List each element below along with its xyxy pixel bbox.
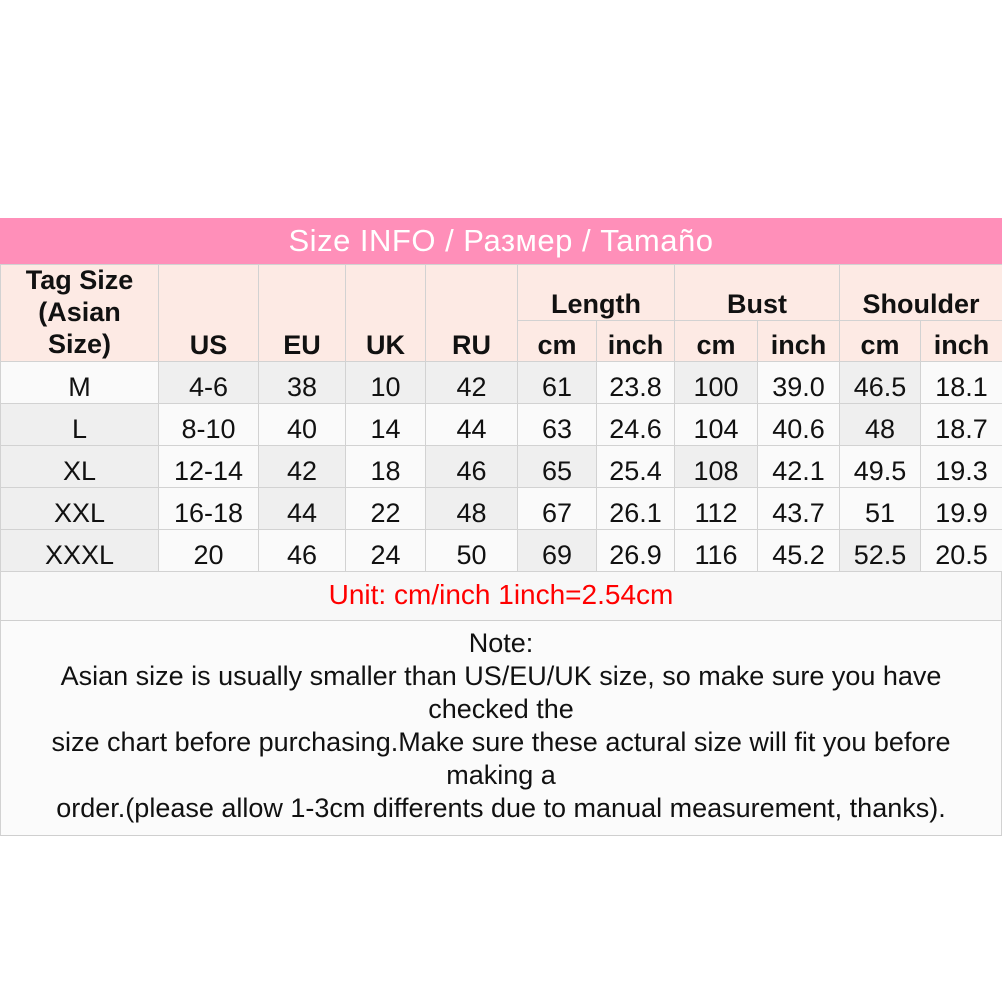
table-row: L 8-10 40 14 44 63 24.6 104 40.6 48 18.7 (1, 403, 1002, 445)
cell-uk: 24 (346, 529, 426, 571)
cell-ru: 50 (426, 529, 518, 571)
cell-bust-cm: 108 (675, 445, 758, 487)
cell-shoulder-cm: 46.5 (840, 361, 921, 403)
cell-bust-cm: 104 (675, 403, 758, 445)
cell-shoulder-cm: 52.5 (840, 529, 921, 571)
cell-uk: 18 (346, 445, 426, 487)
cell-length-cm: 65 (518, 445, 597, 487)
header-tag-size-line1: Tag Size (1, 265, 158, 297)
cell-length-cm: 63 (518, 403, 597, 445)
cell-uk: 22 (346, 487, 426, 529)
size-table: Tag Size (Asian Size) US EU UK RU Length… (0, 264, 1002, 572)
table-row: M 4-6 38 10 42 61 23.8 100 39.0 46.5 18.… (1, 361, 1002, 403)
size-table-body: M 4-6 38 10 42 61 23.8 100 39.0 46.5 18.… (1, 361, 1002, 571)
cell-ru: 48 (426, 487, 518, 529)
cell-length-cm: 61 (518, 361, 597, 403)
unit-note-text: Unit: cm/inch 1inch=2.54cm (329, 579, 674, 610)
cell-length-inch: 26.9 (597, 529, 675, 571)
cell-shoulder-inch: 20.5 (921, 529, 1002, 571)
cell-us: 4-6 (159, 361, 259, 403)
header-unit-shoulder-inch: inch (921, 320, 1002, 361)
header-unit-length-cm: cm (518, 320, 597, 361)
cell-us: 20 (159, 529, 259, 571)
cell-eu: 42 (259, 445, 346, 487)
cell-bust-inch: 45.2 (758, 529, 840, 571)
cell-shoulder-inch: 18.1 (921, 361, 1002, 403)
header-region-uk: UK (346, 265, 426, 362)
cell-us: 16-18 (159, 487, 259, 529)
header-tag-size-line3: Size) (1, 329, 158, 361)
cell-tag: XXL (1, 487, 159, 529)
cell-tag: M (1, 361, 159, 403)
cell-length-inch: 26.1 (597, 487, 675, 529)
banner-title: Size INFO / Размер / Tamaño (289, 223, 714, 259)
cell-length-cm: 69 (518, 529, 597, 571)
cell-uk: 10 (346, 361, 426, 403)
cell-bust-cm: 116 (675, 529, 758, 571)
header-group-length: Length (518, 265, 675, 321)
cell-tag: XXXL (1, 529, 159, 571)
cell-us: 12-14 (159, 445, 259, 487)
cell-eu: 44 (259, 487, 346, 529)
cell-shoulder-cm: 48 (840, 403, 921, 445)
note-line-3: order.(please allow 1-3cm differents due… (7, 792, 995, 825)
table-row: XXL 16-18 44 22 48 67 26.1 112 43.7 51 1… (1, 487, 1002, 529)
header-region-us: US (159, 265, 259, 362)
note-block: Note: Asian size is usually smaller than… (0, 621, 1002, 836)
header-row-groups: Tag Size (Asian Size) US EU UK RU Length… (1, 265, 1002, 321)
cell-bust-inch: 40.6 (758, 403, 840, 445)
cell-ru: 42 (426, 361, 518, 403)
cell-shoulder-cm: 49.5 (840, 445, 921, 487)
cell-length-inch: 24.6 (597, 403, 675, 445)
cell-shoulder-inch: 18.7 (921, 403, 1002, 445)
cell-eu: 40 (259, 403, 346, 445)
cell-shoulder-inch: 19.9 (921, 487, 1002, 529)
note-line-2: size chart before purchasing.Make sure t… (7, 726, 995, 792)
header-group-bust: Bust (675, 265, 840, 321)
note-title: Note: (7, 627, 995, 660)
header-unit-shoulder-cm: cm (840, 320, 921, 361)
header-unit-bust-inch: inch (758, 320, 840, 361)
cell-shoulder-inch: 19.3 (921, 445, 1002, 487)
header-unit-length-inch: inch (597, 320, 675, 361)
header-region-ru: RU (426, 265, 518, 362)
cell-ru: 44 (426, 403, 518, 445)
header-unit-bust-cm: cm (675, 320, 758, 361)
cell-tag: XL (1, 445, 159, 487)
cell-bust-cm: 112 (675, 487, 758, 529)
cell-eu: 46 (259, 529, 346, 571)
cell-bust-inch: 42.1 (758, 445, 840, 487)
cell-shoulder-cm: 51 (840, 487, 921, 529)
header-group-shoulder: Shoulder (840, 265, 1002, 321)
header-tag-size-line2: (Asian (1, 297, 158, 329)
unit-note-row: Unit: cm/inch 1inch=2.54cm (0, 572, 1002, 621)
cell-length-cm: 67 (518, 487, 597, 529)
cell-eu: 38 (259, 361, 346, 403)
cell-ru: 46 (426, 445, 518, 487)
cell-bust-cm: 100 (675, 361, 758, 403)
table-row: XL 12-14 42 18 46 65 25.4 108 42.1 49.5 … (1, 445, 1002, 487)
size-chart-page: Size INFO / Размер / Tamaño Tag Size (0, 0, 1002, 1002)
header-region-eu: EU (259, 265, 346, 362)
cell-bust-inch: 43.7 (758, 487, 840, 529)
size-info-banner: Size INFO / Размер / Tamaño (0, 218, 1002, 264)
table-row: XXXL 20 46 24 50 69 26.9 116 45.2 52.5 2… (1, 529, 1002, 571)
size-table-head: Tag Size (Asian Size) US EU UK RU Length… (1, 265, 1002, 362)
cell-length-inch: 25.4 (597, 445, 675, 487)
header-tag-size: Tag Size (Asian Size) (1, 265, 159, 362)
size-chart-block: Size INFO / Размер / Tamaño Tag Size (0, 218, 1002, 836)
cell-us: 8-10 (159, 403, 259, 445)
cell-length-inch: 23.8 (597, 361, 675, 403)
note-line-1: Asian size is usually smaller than US/EU… (7, 660, 995, 726)
cell-uk: 14 (346, 403, 426, 445)
cell-bust-inch: 39.0 (758, 361, 840, 403)
cell-tag: L (1, 403, 159, 445)
